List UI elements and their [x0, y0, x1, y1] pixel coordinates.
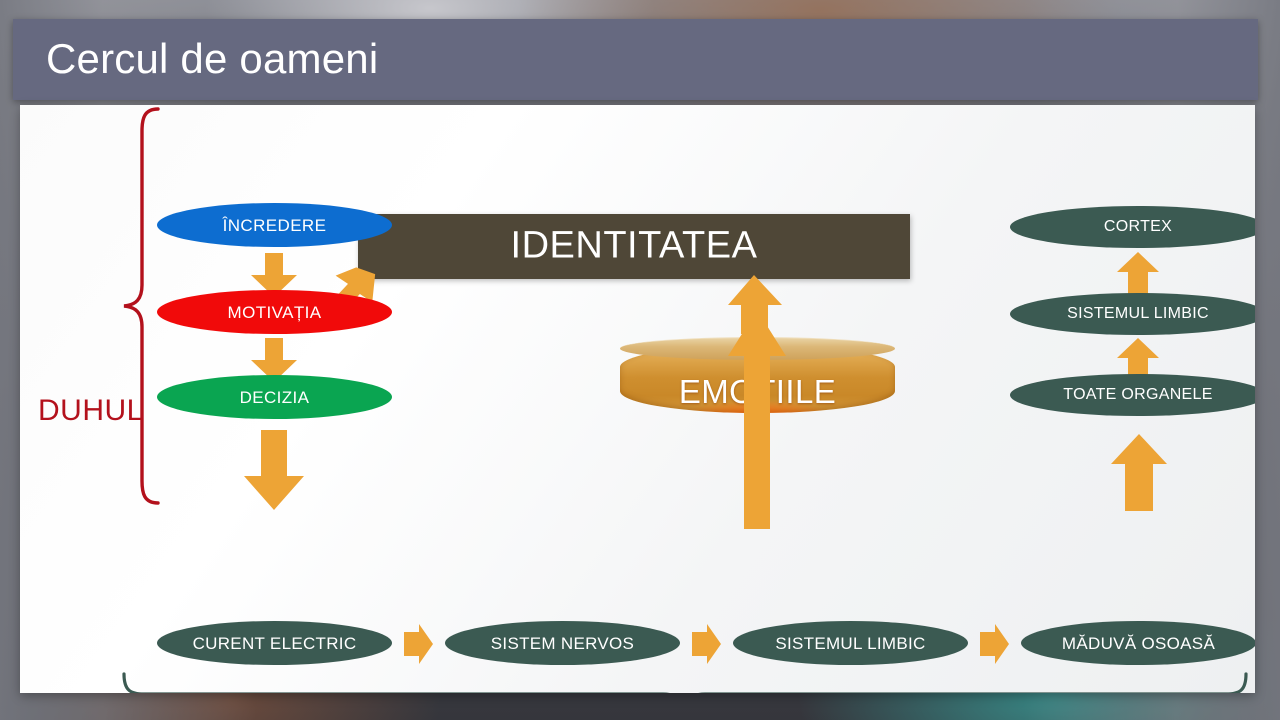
arrow-up-sistemul-limbic-to-emotiile — [727, 310, 787, 530]
oval-decizia-label: DECIZIA — [240, 389, 310, 406]
oval-maduva-osoasa-bottom[interactable]: MĂDUVĂ OSOASĂ — [1021, 621, 1255, 665]
identity-banner: IDENTITATEA — [358, 214, 910, 279]
oval-curent-electric[interactable]: CURENT ELECTRIC — [157, 621, 392, 665]
oval-sistemul-limbic-bottom-label: SISTEMUL LIMBIC — [775, 635, 925, 652]
oval-motivatia[interactable]: MOTIVAȚIA — [157, 290, 392, 334]
oval-toate-organele[interactable]: TOATE ORGANELE — [1010, 374, 1255, 416]
oval-cortex[interactable]: CORTEX — [1010, 206, 1255, 248]
oval-maduva-osoasa-bottom-label: MĂDUVĂ OSOASĂ — [1062, 635, 1215, 652]
identity-banner-label: IDENTITATEA — [358, 224, 910, 267]
spirit-brace — [116, 105, 160, 505]
chevron-curent-to-nervos — [402, 623, 434, 665]
oval-sistem-nervos[interactable]: SISTEM NERVOS — [445, 621, 680, 665]
oval-sistemul-limbic-bottom[interactable]: SISTEMUL LIMBIC — [733, 621, 968, 665]
oval-toate-organele-label: TOATE ORGANELE — [1063, 387, 1212, 403]
arrow-up-maduva-to-toate-organele — [1110, 434, 1168, 512]
arrow-up-sistemul-limbic-to-cortex — [1116, 252, 1160, 298]
oval-sistemul-limbic-right-label: SISTEMUL LIMBIC — [1067, 306, 1209, 322]
arrow-down-decizia-to-curent-electric — [242, 430, 306, 512]
slide-title-bar: Cercul de oameni — [13, 19, 1258, 100]
oval-cortex-label: CORTEX — [1104, 219, 1172, 235]
oval-decizia[interactable]: DECIZIA — [157, 375, 392, 419]
oval-incredere[interactable]: ÎNCREDERE — [157, 203, 392, 247]
chevron-limbic-to-maduva — [978, 623, 1010, 665]
body-brace — [120, 670, 1250, 693]
oval-incredere-label: ÎNCREDERE — [223, 217, 327, 234]
page-title: Cercul de oameni — [46, 35, 378, 83]
slide-canvas: IDENTITATEA ÎNCREDERE MOTIVAȚIA DECIZIA — [20, 105, 1255, 693]
slide-viewport: Cercul de oameni IDENTITATEA ÎNCREDERE M… — [0, 0, 1280, 720]
oval-curent-electric-label: CURENT ELECTRIC — [193, 635, 357, 652]
spirit-brace-label: DUHUL — [38, 394, 144, 428]
oval-sistem-nervos-label: SISTEM NERVOS — [491, 635, 634, 652]
oval-motivatia-label: MOTIVAȚIA — [228, 304, 322, 321]
oval-sistemul-limbic-right[interactable]: SISTEMUL LIMBIC — [1010, 293, 1255, 335]
chevron-nervos-to-limbic — [690, 623, 722, 665]
